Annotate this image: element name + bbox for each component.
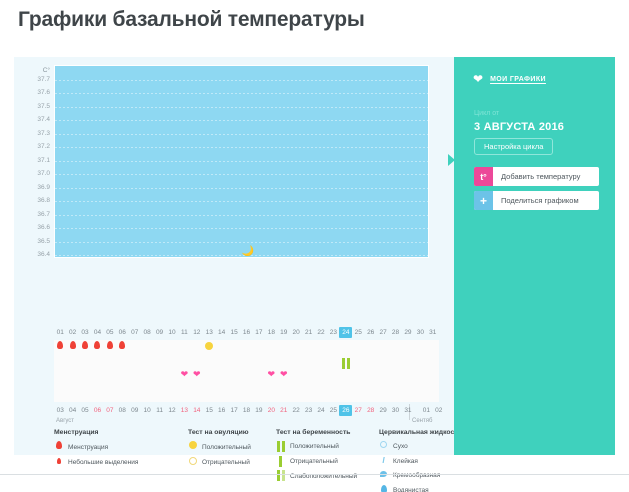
x-tick-bottom[interactable]: 18 [240,405,253,416]
my-charts-link[interactable]: ❤ МОИ ГРАФИКИ [473,73,546,85]
x-tick-bottom[interactable]: 23 [302,405,315,416]
legend-item: Отрицательный [276,456,357,467]
x-tick-bottom[interactable]: 04 [66,405,79,416]
grid-line [55,161,428,162]
x-tick-bottom[interactable]: 21 [277,405,290,416]
chart-card: C°37.737.637.537.437.337.237.137.036.936… [14,57,615,455]
intercourse-marker[interactable]: ❤ [265,368,278,381]
legend-column: МенструацияМенструацияНебольшие выделени… [54,429,138,471]
x-tick-bottom[interactable]: 09 [128,405,141,416]
y-tick-label: 36.9 [37,184,50,191]
y-tick-label: 37.6 [37,89,50,96]
x-tick-bottom[interactable]: 26 [339,405,352,416]
x-tick-bottom[interactable]: 27 [352,405,365,416]
legend-item-label: Отрицательный [202,457,250,468]
my-charts-label: МОИ ГРАФИКИ [490,76,546,83]
share-chart-button[interactable]: + Поделиться графиком [474,191,599,210]
legend-item: Положительный [276,441,357,452]
x-axis-bottom[interactable]: Август Сентяб 03040506070809101112131415… [54,405,439,425]
x-tick-bottom[interactable]: 10 [141,405,154,416]
cycle-date: 3 АВГУСТА 2016 [474,121,564,133]
legend-item-label: Менструация [68,442,108,453]
x-tick-bottom[interactable]: 02 [432,405,445,416]
x-tick-bottom[interactable]: 15 [203,405,216,416]
grid-line [55,80,428,81]
x-tick-bottom[interactable]: 01 [420,405,433,416]
pink-heart-icon: ❤ [280,369,288,379]
sidebar-pointer [448,154,455,166]
legend-item: Кремообразная [379,470,462,481]
add-temperature-button[interactable]: t° Добавить температуру [474,167,599,186]
y-tick-label: 37.4 [37,116,50,123]
x-tick-top[interactable]: 17 [252,327,265,338]
share-chart-label: Поделиться графиком [493,196,579,205]
y-tick-label: 36.8 [37,197,50,204]
yellow-filled-dot-icon [205,342,213,350]
y-tick-label: 37.1 [37,157,50,164]
cycle-caption: Цикл от [474,110,499,117]
temperature-icon: t° [474,167,493,186]
x-axis-top[interactable]: 0102030405060708091011121314151617181920… [54,327,439,339]
legend-item-label: Положительный [202,442,251,453]
pink-heart-icon: ❤ [268,369,276,379]
legend-column-title: Тест на овуляцию [188,429,251,436]
footer-divider [0,474,629,475]
moon-icon: 🌙 [242,247,254,257]
grid-line [55,215,428,216]
add-temperature-label: Добавить температуру [493,172,580,181]
legend-item-label: Водянистая [393,485,429,492]
grid-line [55,188,428,189]
x-tick-top[interactable]: 02 [66,327,79,338]
x-tick-top[interactable]: 19 [277,327,290,338]
x-tick-bottom[interactable]: 11 [153,405,166,416]
cycle-settings-button[interactable]: Настройка цикла [474,138,553,155]
y-axis: C°37.737.637.537.437.337.237.137.036.936… [21,65,53,258]
x-tick-top[interactable]: 26 [364,327,377,338]
legend-item: Сухо [379,441,462,452]
y-tick-label: 37.0 [37,170,50,177]
x-tick-top[interactable]: 16 [240,327,253,338]
legend-item-label: Положительный [290,441,339,452]
x-tick-top[interactable]: 20 [290,327,303,338]
y-tick-label: 36.4 [37,251,50,258]
grid-line [55,120,428,121]
plus-icon: + [474,191,493,210]
grid-line [55,93,428,94]
legend-item-label: Отрицательный [290,456,338,467]
page-title: Графики базальной температуры [18,8,365,32]
legend-column-title: Тест на беременность [276,429,357,436]
grid-line [55,174,428,175]
x-tick-top[interactable]: 15 [228,327,241,338]
month-label-right: Сентяб [412,417,432,425]
y-tick-label: 36.5 [37,238,50,245]
y-tick-label: 37.2 [37,143,50,150]
x-tick-bottom[interactable]: 25 [327,405,340,416]
x-tick-bottom[interactable]: 17 [228,405,241,416]
y-tick-label: 37.3 [37,130,50,137]
x-tick-top[interactable]: 04 [91,327,104,338]
x-tick-top[interactable]: 08 [141,327,154,338]
grid-line [55,107,428,108]
legend-column: Тест на беременностьПоложительныйОтрицат… [276,429,357,485]
legend-item: Менструация [54,441,138,453]
grid-line [55,201,428,202]
creamy-icon [379,470,388,481]
page-root: Графики базальной температуры C°37.737.6… [0,0,629,492]
legend: МенструацияМенструацияНебольшие выделени… [54,429,439,492]
x-tick-top[interactable]: 24 [339,327,352,338]
x-tick-top[interactable]: 28 [389,327,402,338]
x-tick-bottom[interactable]: 05 [79,405,92,416]
legend-item-label: Сухо [393,441,408,452]
x-tick-top[interactable]: 12 [190,327,203,338]
marker-row-intercourse[interactable]: ❤❤❤❤ [54,368,439,383]
legend-column: Цервикальная жидкостьСухоIКлейкаяКремооб… [379,429,462,492]
pink-heart-icon: ❤ [181,369,189,379]
x-tick-bottom[interactable]: 31 [401,405,414,416]
x-tick-bottom[interactable]: 29 [377,405,390,416]
blood-drop-icon [54,441,63,453]
marker-row-ovulation[interactable] [54,341,439,356]
x-tick-bottom[interactable]: 19 [252,405,265,416]
temperature-plot[interactable]: C°37.737.637.537.437.337.237.137.036.936… [21,65,432,265]
legend-column: Тест на овуляциюПоложительныйОтрицательн… [188,429,251,472]
legend-column-title: Менструация [54,429,138,436]
grid-line [55,242,428,243]
month-label-left: Август [56,417,74,425]
legend-item-label: Кремообразная [393,470,440,481]
legend-column-title: Цервикальная жидкость [379,429,462,436]
x-tick-top[interactable]: 05 [103,327,116,338]
ovulation-marker[interactable] [203,341,216,354]
sidebar: ❤ МОИ ГРАФИКИ Цикл от 3 АВГУСТА 2016 Нас… [454,57,615,455]
x-tick-top[interactable]: 21 [302,327,315,338]
x-tick-top[interactable]: 25 [352,327,365,338]
x-tick-top[interactable]: 10 [165,327,178,338]
grid-line [55,228,428,229]
legend-item: Положительный [188,441,251,453]
x-tick-top[interactable]: 23 [327,327,340,338]
x-tick-bottom[interactable]: 03 [54,405,67,416]
legend-item-label: Небольшие выделения [68,457,138,468]
two-green-bars-icon [276,441,285,452]
x-tick-top[interactable]: 01 [54,327,67,338]
small-blood-drop-icon [54,457,63,468]
yellow-outline-dot-icon [188,457,197,469]
two-green-bars-faint-icon [276,470,285,481]
x-tick-bottom[interactable]: 08 [116,405,129,416]
y-tick-label: 36.7 [37,211,50,218]
x-tick-top[interactable]: 07 [128,327,141,338]
grid-line [55,147,428,148]
x-tick-top[interactable]: 30 [414,327,427,338]
grid-line [55,134,428,135]
x-tick-bottom[interactable]: 16 [215,405,228,416]
legend-item-label: Слабоположительный [290,471,357,482]
legend-item-label: Клейкая [393,456,418,467]
x-tick-top[interactable]: 18 [265,327,278,338]
x-tick-top[interactable]: 13 [203,327,216,338]
x-tick-top[interactable]: 22 [315,327,328,338]
x-tick-bottom[interactable]: 28 [364,405,377,416]
x-tick-top[interactable]: 27 [377,327,390,338]
x-tick-bottom[interactable]: 30 [389,405,402,416]
x-tick-top[interactable]: 03 [79,327,92,338]
dry-circle-icon [379,441,388,452]
legend-item: Слабоположительный [276,470,357,481]
intercourse-marker[interactable]: ❤ [190,368,203,381]
plot-area[interactable] [54,65,429,258]
sticky-icon: I [379,456,388,467]
x-tick-bottom[interactable]: 12 [165,405,178,416]
one-green-bar-icon [276,456,285,467]
yellow-filled-dot-icon [188,441,197,453]
x-tick-bottom[interactable]: 07 [103,405,116,416]
legend-item: Отрицательный [188,457,251,469]
y-tick-label: 37.5 [37,103,50,110]
chart-panel: C°37.737.637.537.437.337.237.137.036.936… [14,57,439,455]
legend-item: Водянистая [379,485,462,492]
x-tick-top[interactable]: 31 [426,327,439,338]
y-axis-unit: C° [43,67,50,74]
y-tick-label: 36.6 [37,224,50,231]
x-tick-bottom[interactable]: 06 [91,405,104,416]
legend-item: Небольшие выделения [54,457,138,468]
x-tick-top[interactable]: 14 [215,327,228,338]
intercourse-marker[interactable]: ❤ [178,368,191,381]
x-tick-top[interactable]: 29 [401,327,414,338]
x-tick-bottom[interactable]: 20 [265,405,278,416]
x-tick-bottom[interactable]: 22 [290,405,303,416]
x-tick-top[interactable]: 06 [116,327,129,338]
x-tick-top[interactable]: 11 [178,327,191,338]
marker-panel[interactable]: ❤❤❤❤ [54,340,439,402]
pink-heart-icon: ❤ [193,369,201,379]
heart-icon: ❤ [473,73,483,85]
x-tick-bottom[interactable]: 13 [178,405,191,416]
legend-item: IКлейкая [379,456,462,467]
x-tick-bottom[interactable]: 24 [315,405,328,416]
y-tick-label: 37.7 [37,76,50,83]
x-tick-top[interactable]: 09 [153,327,166,338]
x-tick-bottom[interactable]: 14 [190,405,203,416]
watery-drop-icon [379,485,388,492]
intercourse-marker[interactable]: ❤ [277,368,290,381]
